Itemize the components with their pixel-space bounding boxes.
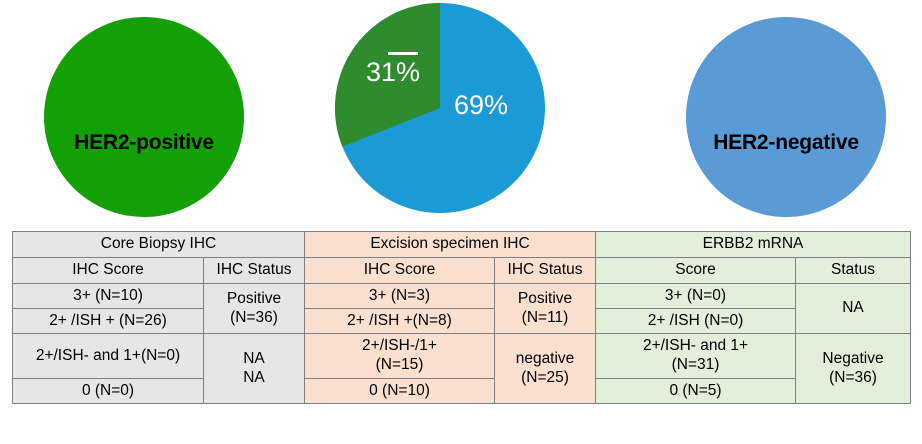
core-score-2plus-ish-negative-1plus: 2+/ISH- and 1+(N=0) xyxy=(13,334,204,379)
table-row-score-2plus-ish: 2+ /ISH + (N=26) 2+ /ISH +(N=8) 2+ /ISH … xyxy=(13,309,911,334)
pie-svg xyxy=(334,2,546,214)
mrna-score-zero: 0 (N=5) xyxy=(596,379,796,404)
pie-label-her2-negative: 69% xyxy=(454,90,508,121)
her2-positive-label: HER2-positive xyxy=(74,131,214,155)
mrna-status-negative: Negative(N=36) xyxy=(796,334,911,404)
table-row-score-zero: 0 (N=0) 0 (N=10) 0 (N=5) xyxy=(13,379,911,404)
pie-label-artifact-overline xyxy=(388,52,418,55)
pie-label-her2-positive: 31% xyxy=(366,57,420,88)
table-row-score-3plus: 3+ (N=10) Positive(N=36) 3+ (N=3) Positi… xyxy=(13,284,911,309)
excision-status-negative: negative(N=25) xyxy=(495,334,596,404)
header-mrna-status: Status xyxy=(796,258,911,284)
figure-canvas: HER2-positive 31% 69% HER2-negative Core… xyxy=(0,0,922,444)
header-excision-score: IHC Score xyxy=(305,258,495,284)
her2-pie-chart: 31% 69% xyxy=(334,2,546,214)
her2-negative-label: HER2-negative xyxy=(713,131,859,155)
her2-negative-circle: HER2-negative xyxy=(686,17,886,217)
excision-score-2plus-ish-positive: 2+ /ISH +(N=8) xyxy=(305,309,495,334)
her2-results-table: Core Biopsy IHC Excision specimen IHC ER… xyxy=(12,231,911,404)
header-mrna-score: Score xyxy=(596,258,796,284)
core-status-na: NANA xyxy=(204,334,305,404)
table-row-score-2plus-ish-neg-1plus: 2+/ISH- and 1+(N=0) NANA 2+/ISH-/1+(N=15… xyxy=(13,334,911,379)
excision-status-positive: Positive(N=11) xyxy=(495,284,596,334)
excision-score-3plus: 3+ (N=3) xyxy=(305,284,495,309)
table-row-group-titles: Core Biopsy IHC Excision specimen IHC ER… xyxy=(13,232,911,258)
header-excision-status: IHC Status xyxy=(495,258,596,284)
group-title-erbb2-mrna: ERBB2 mRNA xyxy=(596,232,911,258)
excision-score-2plus-ish-negative-1plus: 2+/ISH-/1+(N=15) xyxy=(305,334,495,379)
header-core-score: IHC Score xyxy=(13,258,204,284)
group-title-core-biopsy: Core Biopsy IHC xyxy=(13,232,305,258)
core-status-positive: Positive(N=36) xyxy=(204,284,305,334)
core-score-2plus-ish-positive: 2+ /ISH + (N=26) xyxy=(13,309,204,334)
mrna-score-3plus: 3+ (N=0) xyxy=(596,284,796,309)
core-score-3plus: 3+ (N=10) xyxy=(13,284,204,309)
core-score-zero: 0 (N=0) xyxy=(13,379,204,404)
excision-score-zero: 0 (N=10) xyxy=(305,379,495,404)
her2-positive-circle: HER2-positive xyxy=(44,17,244,217)
header-core-status: IHC Status xyxy=(204,258,305,284)
mrna-score-2plus-ish: 2+ /ISH (N=0) xyxy=(596,309,796,334)
table-row-column-headers: IHC Score IHC Status IHC Score IHC Statu… xyxy=(13,258,911,284)
mrna-score-2plus-ish-negative-1plus: 2+/ISH- and 1+(N=31) xyxy=(596,334,796,379)
group-title-excision: Excision specimen IHC xyxy=(305,232,596,258)
mrna-status-na: NA xyxy=(796,284,911,334)
